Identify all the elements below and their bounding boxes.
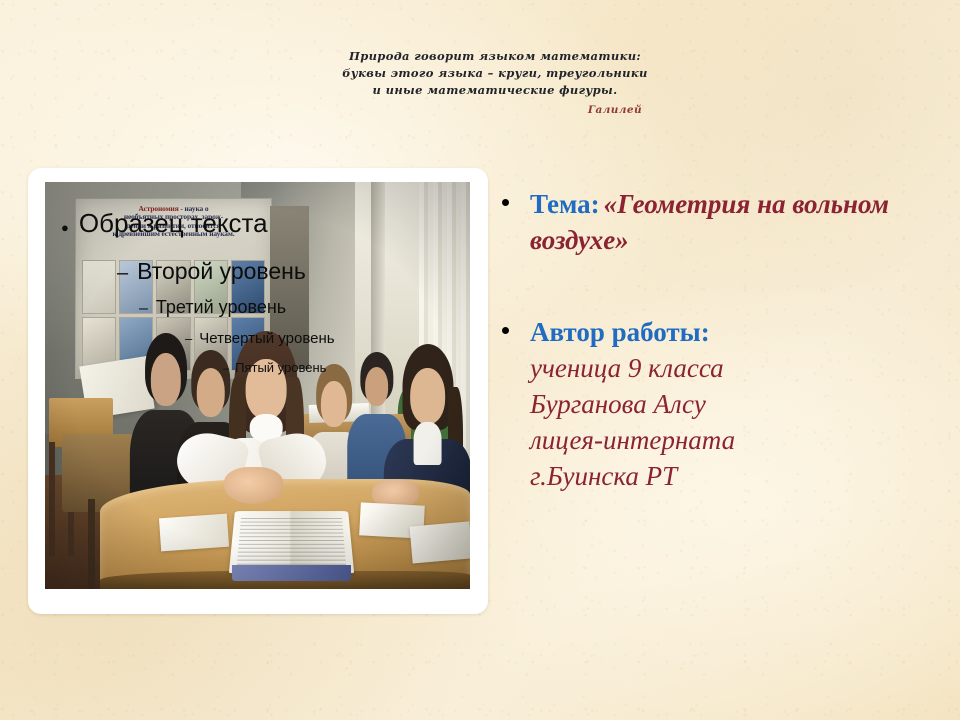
content-bullets: Тема: «Геометрия на вольном воздухе» Авт…	[496, 186, 944, 494]
bullet-block-author: Автор работы: ученица 9 класса Бурганова…	[496, 314, 944, 494]
topic-label: Тема:	[530, 189, 600, 219]
bullet-dot-icon	[502, 327, 509, 334]
epigraph-line-3: и иные математические фигуры.	[300, 82, 690, 99]
author-label: Автор работы:	[530, 314, 944, 350]
epigraph-line-1: Природа говорит языком математики:	[300, 48, 690, 65]
slide-canvas: Природа говорит языком математики: буквы…	[0, 0, 960, 720]
bullet-block-topic: Тема: «Геометрия на вольном воздухе»	[496, 186, 944, 258]
author-line-2: Бурганова Алсу	[530, 386, 944, 422]
author-line-4: г.Буинска РТ	[530, 458, 944, 494]
classroom-photo: Астрономия - наука о необъятных простора…	[45, 182, 470, 589]
bullet-dot-icon	[502, 199, 509, 206]
author-line-3: лицея-интерната	[530, 422, 944, 458]
photo-card[interactable]: Астрономия - наука о необъятных простора…	[28, 168, 488, 614]
epigraph-author: Галилей	[300, 104, 690, 116]
photo-vignette	[45, 182, 470, 589]
bullet-block-author-text: Автор работы: ученица 9 класса Бурганова…	[530, 314, 944, 494]
epigraph-line-2: буквы этого языка – круги, треугольники	[300, 65, 690, 82]
bullet-block-topic-text: Тема: «Геометрия на вольном воздухе»	[530, 186, 944, 258]
epigraph: Природа говорит языком математики: буквы…	[300, 48, 690, 116]
author-line-1: ученица 9 класса	[530, 350, 944, 386]
